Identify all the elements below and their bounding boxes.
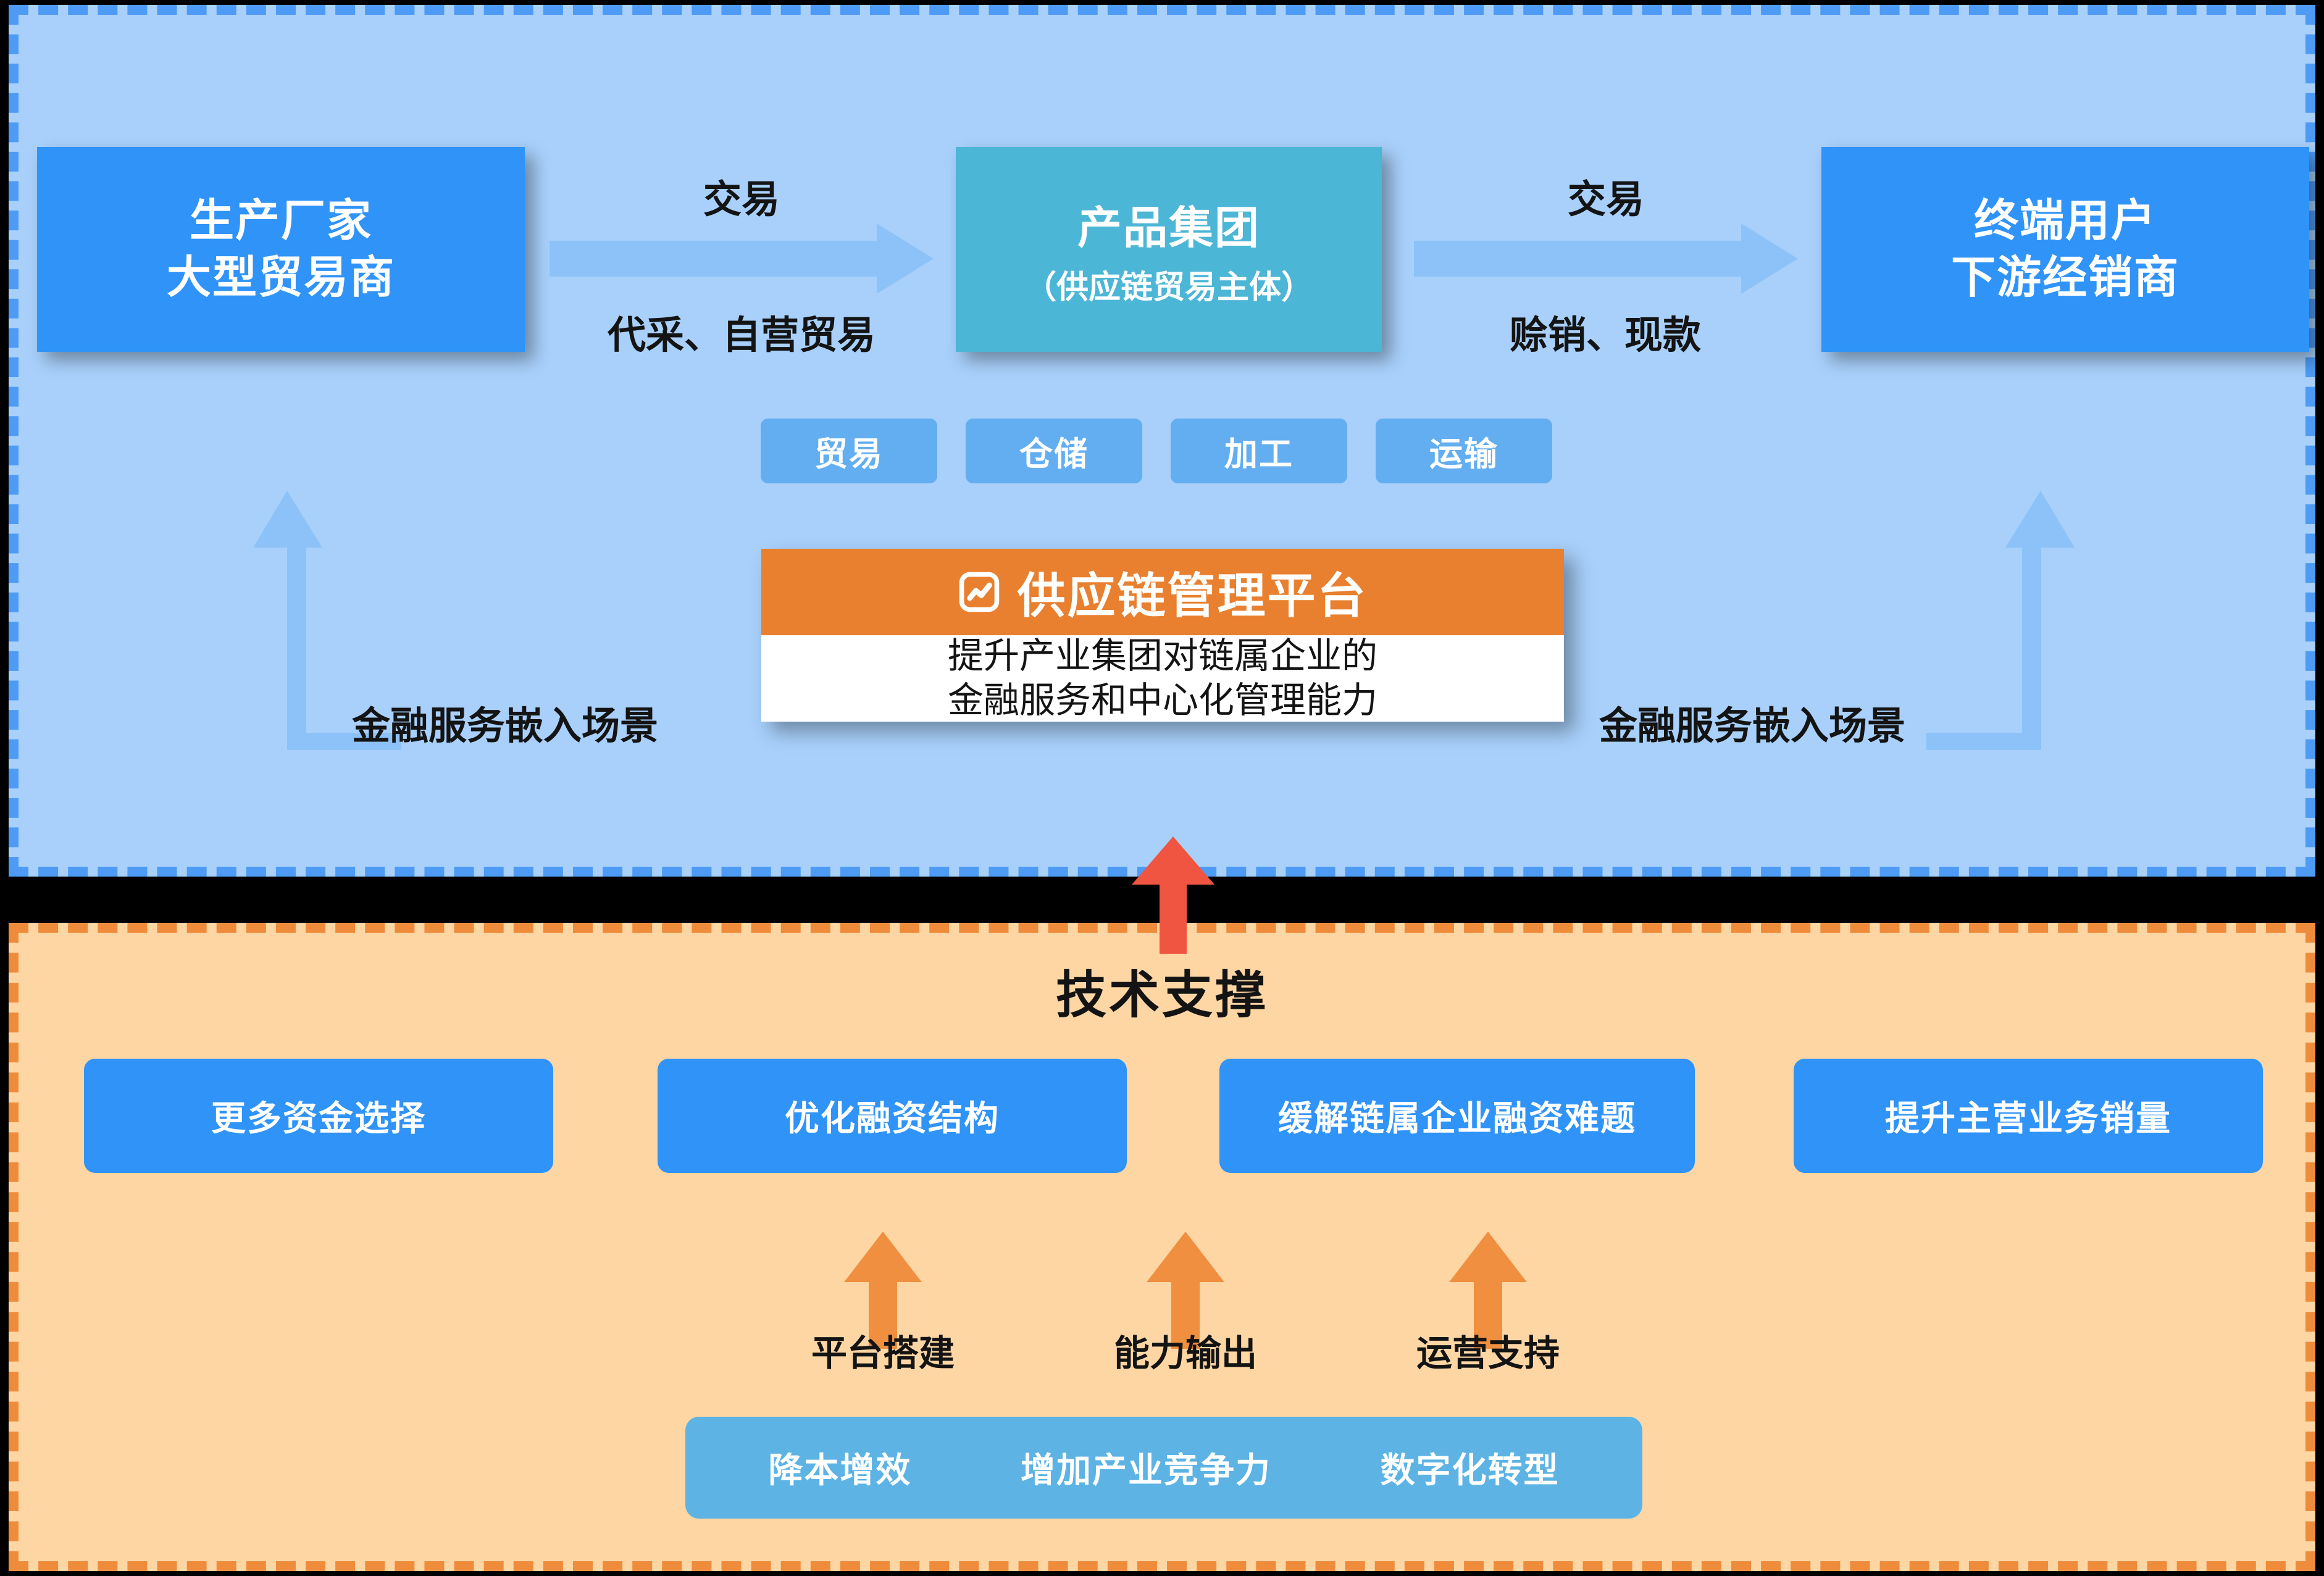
node-product-group-line1: 产品集团 [1077,191,1260,256]
flow-right-top-label: 交易 [1414,168,1798,223]
embed-arrow-right [1926,491,2075,750]
flow-arrow-left-head [877,223,934,294]
flow-arrow-right-shaft [1414,241,1741,277]
chip-trade[interactable]: 贸易 [761,419,937,483]
goal-digital-transformation: 数字化转型 [1381,1443,1560,1493]
benefit-ease-chain-financing[interactable]: 缓解链属企业融资难题 [1219,1059,1695,1173]
chart-trend-icon [958,570,1001,614]
service-chip-group: 贸易 仓储 加工 运输 [761,419,1552,483]
diagram-canvas: 生产厂家 大型贸易商 交易 代采、自营贸易 产品集团 （供应链贸易主体） 交易 … [0,0,2324,1576]
flow-arrow-right-head [1741,223,1798,294]
node-product-group[interactable]: 产品集团 （供应链贸易主体） [956,147,1382,352]
platform-card[interactable]: 供应链管理平台 提升产业集团对链属企业的 金融服务和中心化管理能力 [761,549,1564,722]
node-end-user-line2: 下游经销商 [1951,249,2180,306]
platform-card-body-line2: 金融服务和中心化管理能力 [948,678,1377,723]
benefit-optimize-financing-structure[interactable]: 优化融资结构 [658,1059,1127,1173]
node-end-user[interactable]: 终端用户 下游经销商 [1821,147,2309,352]
platform-card-body: 提升产业集团对链属企业的 金融服务和中心化管理能力 [761,635,1564,722]
platform-card-header: 供应链管理平台 [761,549,1564,635]
flow-arrow-left-shaft [550,241,877,277]
goal-competitiveness: 增加产业竞争力 [1021,1443,1271,1493]
benefit-boost-core-sales[interactable]: 提升主营业务销量 [1794,1059,2263,1173]
node-product-group-line2: （供应链贸易主体） [1024,261,1313,307]
node-producer-line1: 生产厂家 [190,193,372,249]
node-producer[interactable]: 生产厂家 大型贸易商 [37,147,525,352]
goals-bar: 降本增效 增加产业竞争力 数字化转型 [685,1417,1642,1519]
goal-cost-reduction: 降本增效 [768,1443,911,1493]
chip-warehouse[interactable]: 仓储 [966,419,1142,483]
flow-arrow-left [550,223,934,294]
tech-support-title: 技术支撑 [0,954,2324,1027]
support-label-platform-build: 平台搭建 [772,1324,994,1376]
platform-card-body-line1: 提升产业集团对链属企业的 [948,634,1377,679]
red-up-arrow [1121,836,1226,954]
chip-processing[interactable]: 加工 [1171,419,1347,483]
node-end-user-line1: 终端用户 [1974,193,2157,249]
benefit-more-funding-options[interactable]: 更多资金选择 [84,1059,553,1173]
chip-transport[interactable]: 运输 [1376,419,1552,483]
flow-right-bottom-label: 赊销、现款 [1389,304,1821,359]
support-label-operation-support: 运营支持 [1377,1324,1599,1376]
support-label-capability-output: 能力输出 [1074,1324,1297,1376]
flow-left-bottom-label: 代采、自营贸易 [512,304,971,359]
embed-label-right: 金融服务嵌入场景 [1599,694,1905,750]
platform-card-title: 供应链管理平台 [1017,557,1367,627]
embed-label-left: 金融服务嵌入场景 [352,694,658,750]
flow-arrow-right [1414,223,1798,294]
flow-left-top-label: 交易 [550,168,934,223]
node-producer-line2: 大型贸易商 [167,249,395,306]
